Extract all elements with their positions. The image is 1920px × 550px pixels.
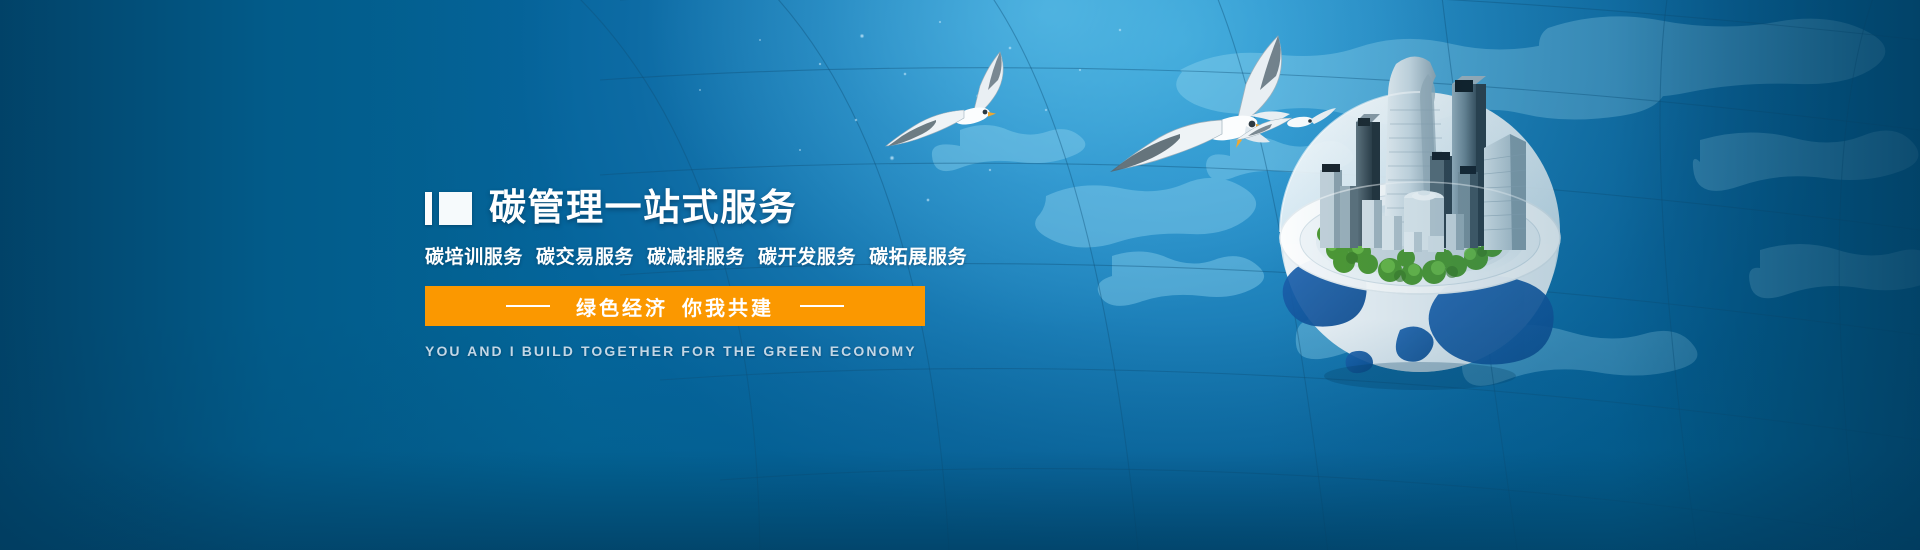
hero-banner: 碳管理一站式服务 碳培训服务碳交易服务碳减排服务碳开发服务碳拓展服务 绿色经济你…: [0, 0, 1920, 550]
slogan-rule-right-icon: [800, 305, 844, 307]
service-item-2: 碳交易服务: [536, 247, 634, 268]
service-item-4: 碳开发服务: [758, 247, 856, 268]
mark-bar-icon: [425, 192, 432, 225]
service-item-1: 碳培训服务: [425, 247, 523, 268]
service-item-5: 碳拓展服务: [869, 247, 967, 268]
slogan-banner: 绿色经济你我共建: [425, 286, 925, 326]
title-row: 碳管理一站式服务: [425, 186, 1065, 230]
service-item-3: 碳减排服务: [647, 247, 745, 268]
banner-content: 碳管理一站式服务 碳培训服务碳交易服务碳减排服务碳开发服务碳拓展服务 绿色经济你…: [425, 186, 1065, 359]
service-list: 碳培训服务碳交易服务碳减排服务碳开发服务碳拓展服务: [425, 242, 1065, 269]
english-tagline: YOU AND I BUILD TOGETHER FOR THE GREEN E…: [425, 343, 1065, 359]
bar-square-mark-icon: [425, 192, 472, 225]
page-title: 碳管理一站式服务: [489, 188, 797, 228]
mark-square-icon: [439, 192, 472, 225]
slogan-part-2: 你我共建: [682, 298, 774, 320]
slogan-part-1: 绿色经济: [576, 298, 668, 320]
slogan-rule-left-icon: [506, 305, 550, 307]
slogan-text: 绿色经济你我共建: [576, 292, 774, 321]
